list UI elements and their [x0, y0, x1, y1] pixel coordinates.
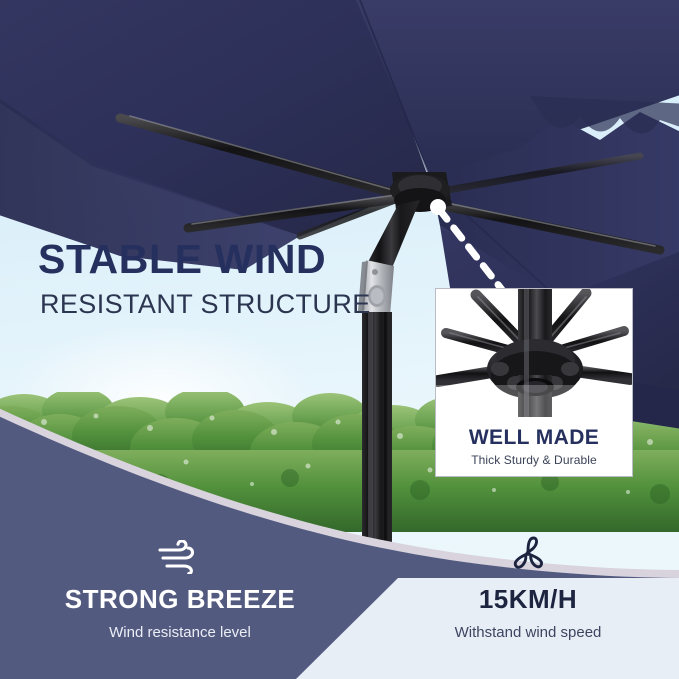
page-title: STABLE WIND — [38, 238, 418, 281]
page-subtitle: RESISTANT STRUCTURE — [40, 290, 418, 320]
inset-title: WELL MADE — [436, 426, 632, 450]
feature-title: 15KM/H — [479, 586, 577, 612]
inset-text-block: WELL MADE Thick Sturdy & Durable — [436, 426, 632, 467]
fan-propeller-icon — [508, 534, 548, 574]
feature-subtitle: Wind resistance level — [109, 625, 251, 640]
feature-strip: STRONG BREEZE Wind resistance level 15KM… — [0, 494, 679, 679]
well-made-callout-panel: WELL MADE Thick Sturdy & Durable — [435, 288, 633, 477]
headline-block: STABLE WIND RESISTANT STRUCTURE — [38, 238, 418, 320]
feature-subtitle: Withstand wind speed — [455, 625, 602, 640]
inset-subtitle: Thick Sturdy & Durable — [436, 453, 632, 467]
umbrella-hub-closeup-photo — [436, 289, 632, 417]
product-feature-graphic: STABLE WIND RESISTANT STRUCTURE — [0, 0, 679, 679]
feature-strong-breeze: STRONG BREEZE Wind resistance level — [0, 494, 400, 679]
feature-title: STRONG BREEZE — [65, 586, 295, 612]
wind-icon — [157, 534, 203, 574]
feature-wind-speed: 15KM/H Withstand wind speed — [349, 494, 679, 679]
